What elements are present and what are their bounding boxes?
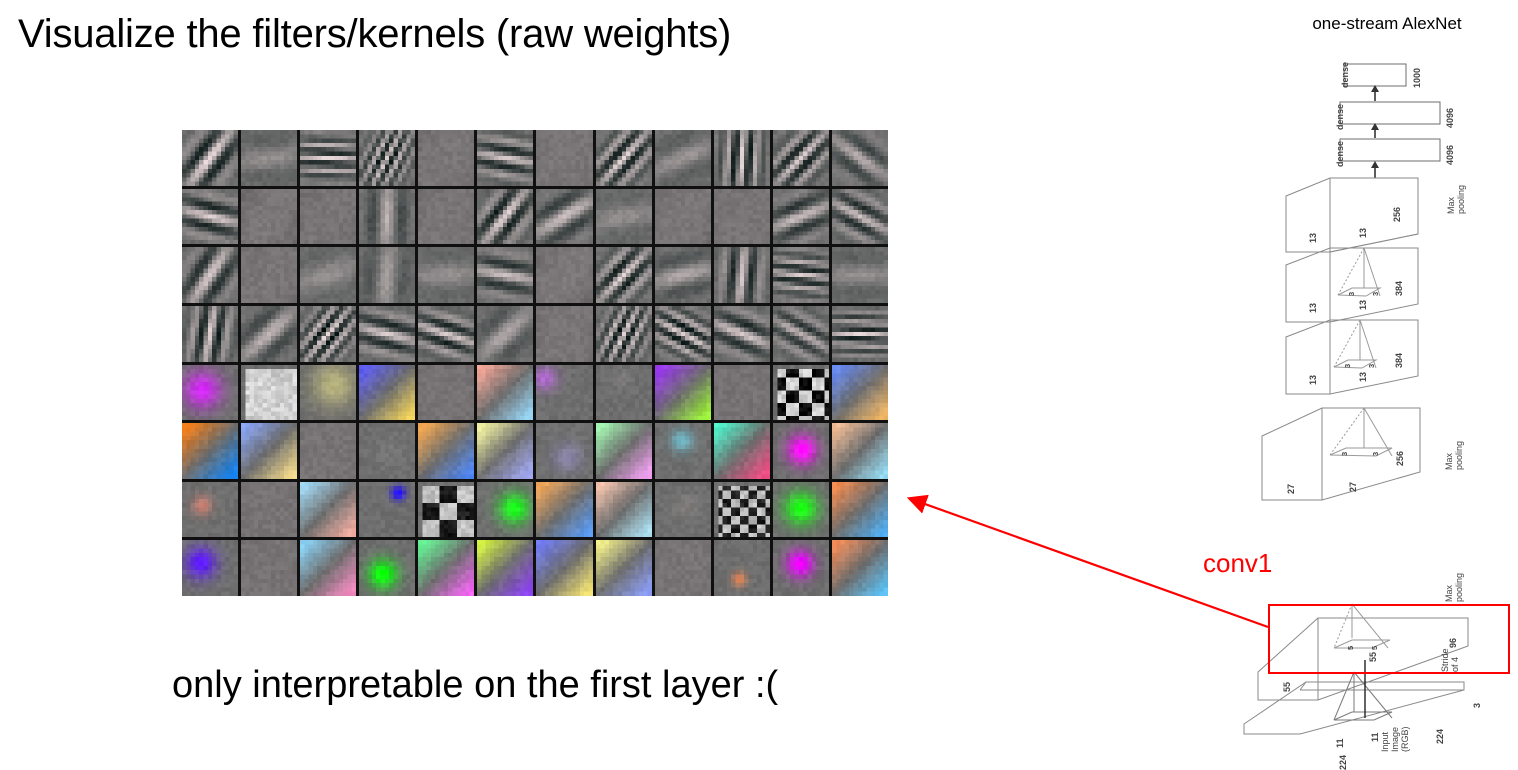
filter-cell <box>832 365 888 421</box>
filter-cell <box>359 130 415 186</box>
filter-cell <box>655 130 711 186</box>
filter-cell <box>359 365 415 421</box>
input-height-224: 224 <box>1435 729 1445 744</box>
filter-cell <box>832 189 888 245</box>
filter-cell <box>714 540 770 596</box>
filter-cell <box>418 482 474 538</box>
filter-cell <box>477 189 533 245</box>
filter-cell <box>300 189 356 245</box>
filter-cell <box>773 189 829 245</box>
filter-cell <box>773 365 829 421</box>
filter-cell <box>359 482 415 538</box>
filter-cell <box>241 306 297 362</box>
filter-cell <box>418 189 474 245</box>
filter-cell <box>655 540 711 596</box>
conv1-filter-grid <box>182 130 888 596</box>
kernel-size-3-a: 3 <box>1347 292 1356 296</box>
filter-cell <box>300 540 356 596</box>
filter-cell <box>832 130 888 186</box>
filter-cell <box>596 365 652 421</box>
filter-cell <box>359 306 415 362</box>
conv-spatial-27-b: 27 <box>1348 482 1358 492</box>
filter-cell <box>182 423 238 479</box>
filter-cell <box>596 189 652 245</box>
filter-cell <box>714 423 770 479</box>
filter-cell <box>596 540 652 596</box>
filter-cell <box>418 306 474 362</box>
filter-cell <box>536 423 592 479</box>
filter-cell <box>832 540 888 596</box>
dense-box-1000 <box>1344 64 1406 86</box>
dense-label-4096-lower: dense <box>1335 141 1345 167</box>
filter-cell <box>182 482 238 538</box>
filter-cell <box>773 540 829 596</box>
filter-cell <box>536 365 592 421</box>
filter-cell <box>241 423 297 479</box>
filter-cell <box>536 247 592 303</box>
conv-spatial-13-f: 13 <box>1358 372 1368 382</box>
filter-cell <box>536 130 592 186</box>
filter-cell <box>182 540 238 596</box>
filter-cell <box>596 130 652 186</box>
filter-cell <box>714 189 770 245</box>
filter-cell <box>182 130 238 186</box>
dense-box-4096-lower <box>1340 139 1440 161</box>
conv-depth-384-a: 384 <box>1394 281 1404 296</box>
input-width-224: 224 <box>1338 755 1348 770</box>
filter-cell <box>477 540 533 596</box>
conv-depth-384-b: 384 <box>1394 353 1404 368</box>
filter-cell <box>182 247 238 303</box>
filter-cell <box>655 189 711 245</box>
filter-cell <box>359 189 415 245</box>
input-image-label: InputImage(RGB) <box>1380 727 1410 753</box>
filter-cell <box>596 247 652 303</box>
conv-spatial-27-a: 27 <box>1286 484 1296 494</box>
conv1-spatial-55-a: 55 <box>1282 682 1292 692</box>
filter-cell <box>418 365 474 421</box>
filter-cell <box>773 306 829 362</box>
kernel-size-3-a2: 3 <box>1371 292 1380 296</box>
filter-cell <box>655 365 711 421</box>
conv-spatial-13-d: 13 <box>1358 300 1368 310</box>
dense-units-4096-lower: 4096 <box>1445 145 1455 165</box>
filter-cell <box>832 423 888 479</box>
filter-cell <box>300 423 356 479</box>
dense-units-4096-upper: 4096 <box>1445 108 1455 128</box>
filter-cell <box>477 306 533 362</box>
filter-cell <box>300 306 356 362</box>
dense-box-4096-upper <box>1340 102 1440 124</box>
filter-cell <box>182 189 238 245</box>
slide-caption: only interpretable on the first layer :( <box>172 665 778 707</box>
filter-cell <box>418 540 474 596</box>
filter-cell <box>832 306 888 362</box>
filter-cell <box>241 130 297 186</box>
conv1-annotation-label: conv1 <box>1203 548 1272 579</box>
filter-cell <box>596 306 652 362</box>
filter-cell <box>418 247 474 303</box>
filter-cell <box>773 482 829 538</box>
filter-cell <box>773 247 829 303</box>
filter-cell <box>477 130 533 186</box>
input-channels-3: 3 <box>1472 703 1482 708</box>
filter-cell <box>359 247 415 303</box>
filter-cell <box>477 423 533 479</box>
filter-cell <box>241 540 297 596</box>
filter-cell <box>477 365 533 421</box>
page-title: Visualize the filters/kernels (raw weigh… <box>18 12 731 56</box>
filter-cell <box>300 130 356 186</box>
filter-cell <box>655 423 711 479</box>
filter-cell <box>714 306 770 362</box>
filter-cell <box>536 540 592 596</box>
filter-cell <box>832 482 888 538</box>
filter-cell <box>477 482 533 538</box>
conv-spatial-13-c: 13 <box>1308 303 1318 313</box>
maxpool-label-mid: Maxpooling <box>1444 441 1464 470</box>
filter-cell <box>418 130 474 186</box>
filter-cell <box>596 482 652 538</box>
filter-cell <box>241 247 297 303</box>
filter-cell <box>359 540 415 596</box>
filter-cell <box>832 247 888 303</box>
maxpool-label-conv1: Maxpooling <box>1444 573 1464 602</box>
filter-cell <box>182 365 238 421</box>
dense-units-1000: 1000 <box>1412 68 1422 88</box>
conv-depth-256-top: 256 <box>1392 207 1402 222</box>
filter-cell <box>773 130 829 186</box>
filter-cell <box>359 423 415 479</box>
kernel-size-3-c2: 3 <box>1371 452 1380 456</box>
filter-cell <box>773 423 829 479</box>
kernel-size-3-c: 3 <box>1340 452 1349 456</box>
filter-cell <box>655 306 711 362</box>
kernel-size-3-b2: 3 <box>1367 364 1376 368</box>
filter-cell <box>477 247 533 303</box>
kernel-size-3-b: 3 <box>1343 364 1352 368</box>
conv-spatial-13-b: 13 <box>1358 228 1368 238</box>
maxpool-label-top: Maxpooling <box>1446 185 1466 214</box>
filter-cell <box>536 189 592 245</box>
filter-cell <box>418 423 474 479</box>
filter-cell <box>596 423 652 479</box>
filter-cell <box>714 482 770 538</box>
conv-spatial-13-a: 13 <box>1308 233 1318 243</box>
dense-label-4096-upper: dense <box>1335 104 1345 130</box>
filter-cell <box>241 189 297 245</box>
filter-cell <box>241 365 297 421</box>
filter-cell <box>182 306 238 362</box>
filter-cell <box>655 482 711 538</box>
filter-cell <box>536 306 592 362</box>
filter-cell <box>241 482 297 538</box>
filter-cell <box>536 482 592 538</box>
conv-depth-256-mid: 256 <box>1395 451 1405 466</box>
filter-cell <box>300 365 356 421</box>
conv1-highlight-box <box>1268 604 1510 674</box>
input-kernel-11-b: 11 <box>1370 732 1380 742</box>
filter-cell <box>714 247 770 303</box>
dense-label-1000: dense <box>1340 62 1350 88</box>
filter-cell <box>714 365 770 421</box>
filter-cell <box>300 247 356 303</box>
filter-cell <box>300 482 356 538</box>
filter-cell <box>714 130 770 186</box>
input-kernel-11-a: 11 <box>1335 738 1345 748</box>
conv-spatial-13-e: 13 <box>1308 375 1318 385</box>
filter-cell <box>655 247 711 303</box>
